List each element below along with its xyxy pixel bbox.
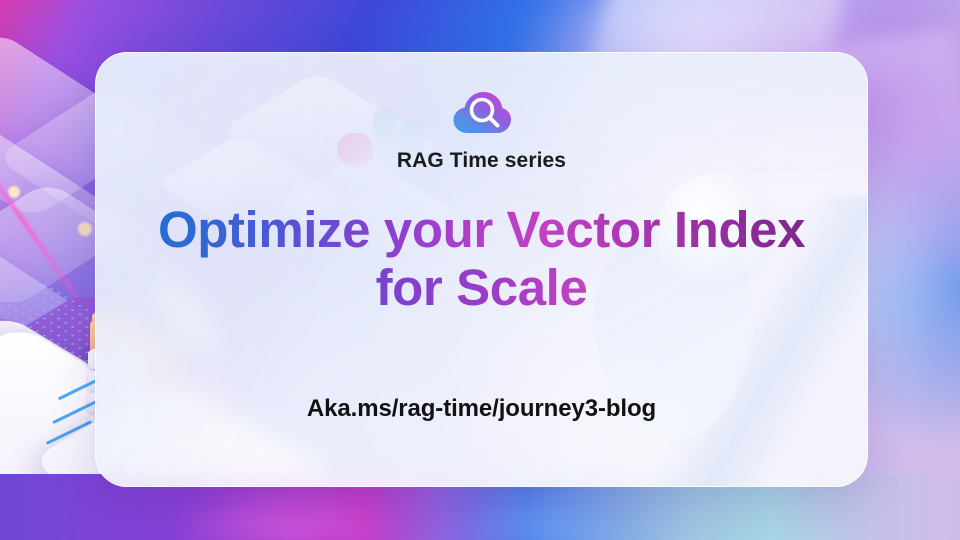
page-title: Optimize your Vector Index for Scale: [96, 201, 867, 317]
link-url[interactable]: Aka.ms/rag-time/journey3-blog: [307, 395, 656, 423]
iso-dot: [78, 222, 92, 236]
title-line-1: Optimize your Vector Index: [96, 201, 867, 259]
slide-canvas: RAG Time series Optimize your Vector Ind…: [0, 0, 960, 540]
content-card: RAG Time series Optimize your Vector Ind…: [95, 52, 868, 487]
iso-dot: [8, 186, 20, 198]
title-line-2: for Scale: [96, 259, 867, 317]
series-label: RAG Time series: [397, 149, 566, 173]
cloud-search-icon: [451, 87, 513, 135]
card-content: RAG Time series Optimize your Vector Ind…: [96, 53, 867, 486]
